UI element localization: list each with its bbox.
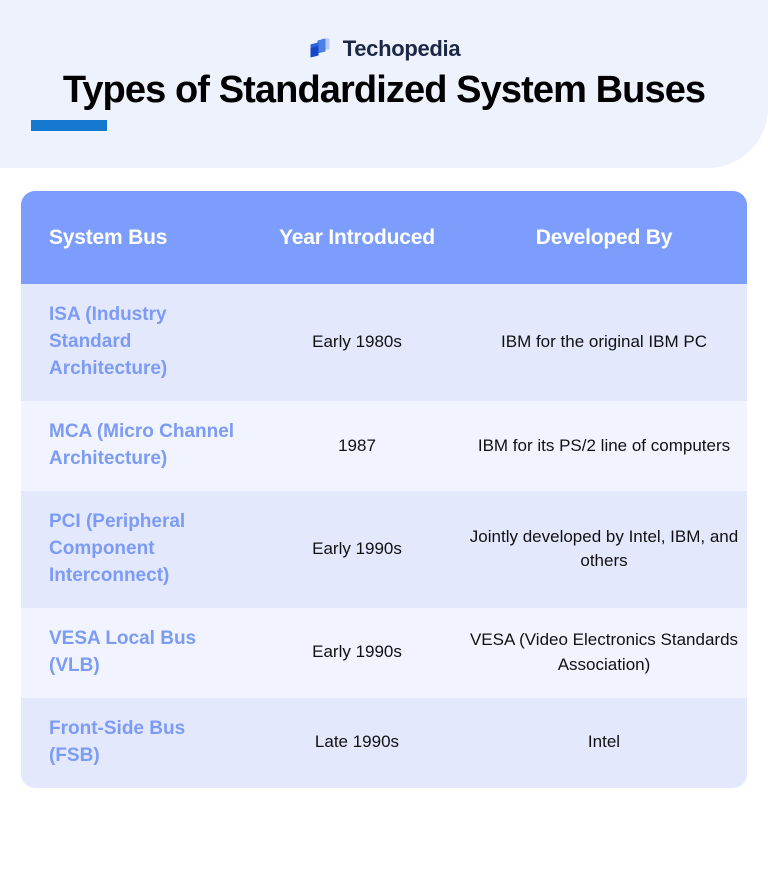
cell-year: Early 1990s: [253, 608, 461, 698]
cell-bus-name: MCA (Micro Channel Architecture): [21, 401, 253, 491]
cell-bus-name: Front-Side Bus (FSB): [21, 698, 253, 788]
table-row: VESA Local Bus (VLB) Early 1990s VESA (V…: [21, 608, 747, 698]
cell-bus-name: VESA Local Bus (VLB): [21, 608, 253, 698]
column-header-system-bus: System Bus: [21, 191, 253, 284]
header-banner: Techopedia Types of Standardized System …: [0, 0, 768, 168]
system-bus-table: System Bus Year Introduced Developed By …: [21, 191, 747, 788]
column-header-developed-by: Developed By: [461, 191, 747, 284]
table-row: ISA (Industry Standard Architecture) Ear…: [21, 284, 747, 401]
table-body: ISA (Industry Standard Architecture) Ear…: [21, 284, 747, 788]
cell-bus-name: PCI (Peripheral Component Interconnect): [21, 491, 253, 608]
cell-year: Early 1980s: [253, 284, 461, 401]
cell-developed-by: IBM for the original IBM PC: [461, 284, 747, 401]
cell-year: 1987: [253, 401, 461, 491]
table-header: System Bus Year Introduced Developed By: [21, 191, 747, 284]
table-row: MCA (Micro Channel Architecture) 1987 IB…: [21, 401, 747, 491]
table-row: Front-Side Bus (FSB) Late 1990s Intel: [21, 698, 747, 788]
cell-developed-by: Jointly developed by Intel, IBM, and oth…: [461, 491, 747, 608]
cell-year: Late 1990s: [253, 698, 461, 788]
techopedia-logo-icon: [308, 36, 334, 62]
table-header-row: System Bus Year Introduced Developed By: [21, 191, 747, 284]
cell-bus-name: ISA (Industry Standard Architecture): [21, 284, 253, 401]
column-header-year-introduced: Year Introduced: [253, 191, 461, 284]
brand-logo-lockup[interactable]: Techopedia: [0, 36, 768, 62]
brand-name: Techopedia: [343, 38, 461, 60]
table-row: PCI (Peripheral Component Interconnect) …: [21, 491, 747, 608]
title-accent-bar: [31, 120, 107, 131]
page-title: Types of Standardized System Buses: [0, 68, 768, 114]
cell-year: Early 1990s: [253, 491, 461, 608]
cell-developed-by: VESA (Video Electronics Standards Associ…: [461, 608, 747, 698]
cell-developed-by: Intel: [461, 698, 747, 788]
cell-developed-by: IBM for its PS/2 line of computers: [461, 401, 747, 491]
